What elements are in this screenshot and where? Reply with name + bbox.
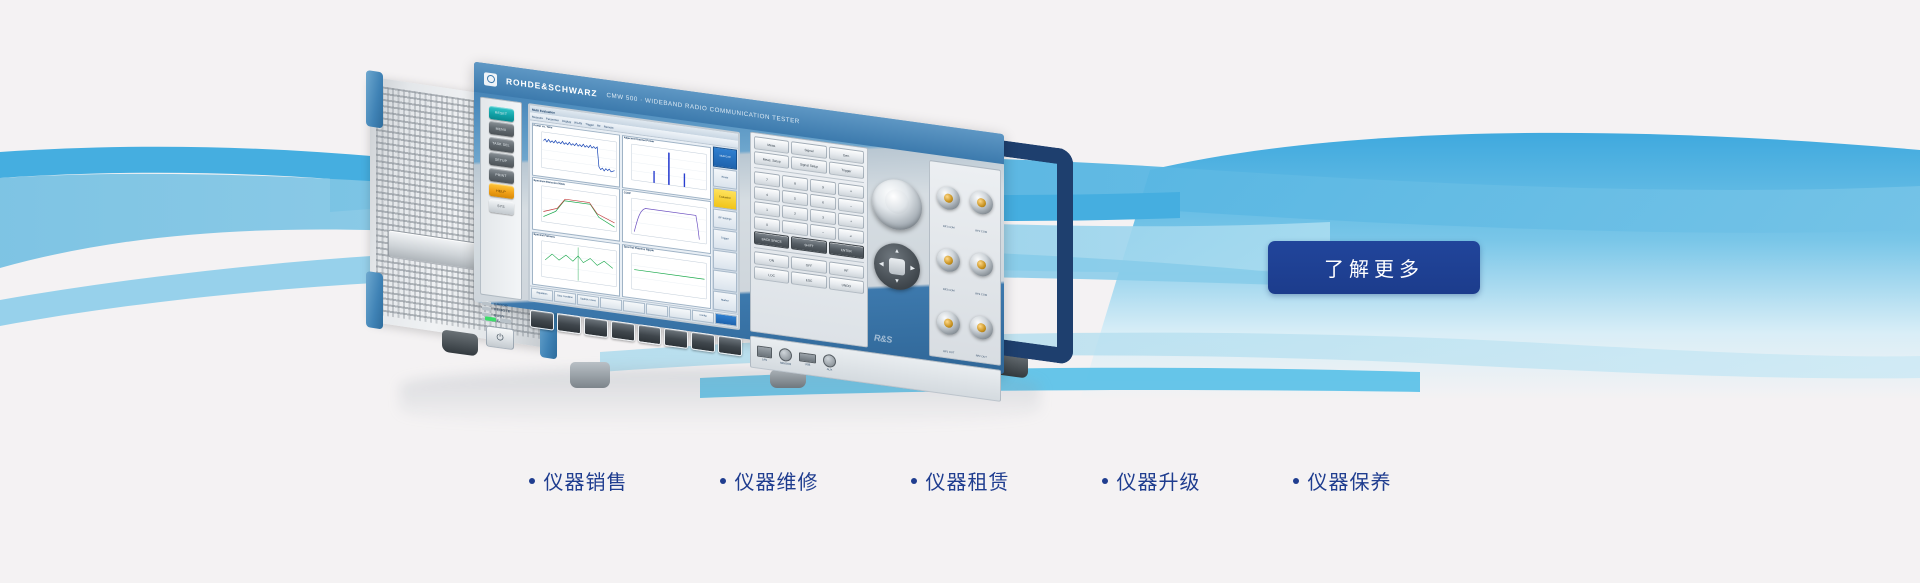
softkey[interactable]: Multi Eval	[713, 146, 737, 169]
softkey[interactable]: Route	[713, 167, 737, 190]
keypad-key-return[interactable]: ↵	[838, 228, 864, 245]
usb-port-icon	[799, 352, 816, 363]
menu-item[interactable]: Measure	[532, 114, 543, 119]
keypad-key-6[interactable]: 6	[810, 194, 836, 211]
instrument-foot	[442, 329, 478, 356]
hardkey[interactable]	[530, 309, 554, 330]
corner-cap	[366, 271, 383, 330]
keypad-key-9[interactable]: 9	[810, 179, 836, 196]
io-port-label: AUX	[827, 368, 833, 372]
nav-item-label: 仪器销售	[544, 466, 628, 495]
softkey[interactable]	[713, 269, 737, 292]
softkey[interactable]	[713, 249, 737, 272]
rf-connector-label: RF1 OUT	[943, 350, 954, 355]
nav-item-instrument-sales[interactable]: 仪器销售	[529, 466, 628, 495]
menu-item[interactable]: WLAN	[574, 120, 582, 125]
nav-item-instrument-maintenance[interactable]: 仪器保养	[1293, 466, 1392, 495]
function-key[interactable]: Statistic Count	[577, 294, 599, 308]
nav-item-label: 仪器保养	[1308, 466, 1392, 495]
keypad-key[interactable]: Signal Setup	[791, 156, 826, 174]
instrument-display[interactable]: Multi Evaluation Measure Parameter Displ…	[528, 103, 740, 330]
rf-connector-label: RF1 COM	[943, 225, 955, 230]
rf-connector[interactable]: RF2 OUT	[967, 296, 997, 359]
keypad-key-0[interactable]: 0	[754, 216, 780, 233]
rf-connector[interactable]: RF2 COM	[967, 171, 997, 234]
hardkey[interactable]	[611, 320, 635, 341]
coaxial-connector-icon	[937, 248, 960, 274]
panel-watermark: R&S	[874, 332, 892, 344]
function-key[interactable]: Stop Condition	[554, 291, 576, 305]
keypad-key-3[interactable]: 3	[810, 209, 836, 226]
coaxial-connector-icon	[970, 252, 993, 278]
product-image-cmw500: ROHDE&SCHWARZ CMW 500 · WIDEBAND RADIO C…	[370, 70, 1110, 400]
led-indicator-icon	[482, 306, 491, 311]
keypad-key-backspace[interactable]: BACK SPACE	[754, 231, 789, 249]
power-button[interactable]: ⏻	[486, 325, 514, 350]
keypad-key-loc[interactable]: LOC	[754, 266, 789, 284]
lan-port-icon	[757, 345, 772, 358]
sensor-port-icon	[779, 347, 792, 362]
nav-item-instrument-rental[interactable]: 仪器租赁	[911, 466, 1010, 495]
brand-name: ROHDE&SCHWARZ	[506, 76, 598, 99]
rotary-knob[interactable]	[872, 176, 922, 233]
keypad-key-shift[interactable]: SHIFT	[791, 236, 826, 254]
io-port-label: LAN	[762, 358, 767, 362]
arrow-down-icon[interactable]: ▼	[894, 278, 900, 285]
keypad-key-5[interactable]: 5	[782, 190, 808, 207]
io-port-lan[interactable]: LAN	[757, 345, 772, 362]
key-sys[interactable]: SYS	[489, 198, 514, 214]
key-reset[interactable]: RESET	[489, 105, 514, 121]
keypad-key-1[interactable]: 1	[754, 201, 780, 218]
rf-connector[interactable]: RF3 COM	[934, 229, 964, 292]
key-help[interactable]: HELP	[489, 183, 514, 199]
navigation-controls[interactable]: ▲ ▼ ◀ ▶	[870, 176, 926, 334]
io-port-label: USB	[805, 363, 811, 367]
keypad-key-8[interactable]: 8	[782, 175, 808, 192]
rf-connector-label: RF2 COM	[975, 230, 987, 235]
hardkey[interactable]	[718, 335, 742, 356]
led-indicator-icon	[482, 300, 491, 305]
rf-connector[interactable]: RF1 OUT	[934, 291, 964, 354]
arrow-right-icon[interactable]: ▶	[910, 265, 915, 272]
instrument-front-panel: ROHDE&SCHWARZ CMW 500 · WIDEBAND RADIO C…	[474, 62, 1004, 375]
hero-banner: ROHDE&SCHWARZ CMW 500 · WIDEBAND RADIO C…	[0, 0, 1920, 583]
keypad-key[interactable]: Meas. Setup	[754, 151, 789, 169]
function-key[interactable]: Repetition	[531, 288, 553, 302]
nav-item-instrument-repair[interactable]: 仪器维修	[720, 466, 819, 495]
learn-more-button[interactable]: 了解更多	[1268, 241, 1480, 294]
key-menu[interactable]: MENU	[489, 121, 514, 137]
menu-item[interactable]: Parameter	[546, 116, 559, 122]
bullet-icon	[720, 478, 726, 484]
io-port-label: SENSOR	[780, 361, 791, 366]
display-softkey-column[interactable]: Multi Eval Route Evaluation RF Settings …	[712, 145, 738, 314]
nav-item-label: 仪器维修	[735, 466, 819, 495]
side-key-column: RESET MENU TASK SEL SETUP PRINT HELP SYS	[480, 97, 522, 301]
rf-connector-panel[interactable]: RF1 COM RF2 COM RF3 COM RF4 COM RF1 OUT	[929, 160, 1001, 366]
menu-item[interactable]: Display	[562, 118, 571, 123]
hardkey[interactable]	[638, 324, 662, 345]
instrument-foot	[570, 362, 610, 388]
keypad-key-7[interactable]: 7	[754, 171, 780, 188]
coaxial-connector-icon	[937, 185, 960, 211]
function-key[interactable]	[669, 306, 691, 320]
keypad-key-dot[interactable]: .	[782, 220, 808, 237]
arrow-up-icon[interactable]: ▲	[894, 248, 900, 255]
softkey[interactable]: Evaluation	[713, 187, 737, 210]
coaxial-connector-icon	[970, 190, 993, 216]
coaxial-connector-icon	[970, 314, 993, 340]
keypad-control-group[interactable]: ON OFF RF LOC ESC UNDO	[754, 251, 864, 294]
corner-cap	[366, 70, 383, 129]
hardkey[interactable]	[584, 317, 608, 338]
coaxial-connector-icon	[937, 310, 960, 336]
io-port-sensor[interactable]: SENSOR	[779, 347, 792, 366]
menu-item[interactable]: Trigger	[585, 121, 594, 126]
io-port-aux[interactable]: AUX	[823, 353, 836, 372]
softkey[interactable]: Marker	[713, 290, 737, 313]
hardkey[interactable]	[557, 313, 581, 334]
hardkey[interactable]	[691, 331, 715, 352]
nav-item-label: 仪器升级	[1117, 466, 1201, 495]
function-key[interactable]	[600, 297, 622, 311]
menu-item[interactable]: RF	[597, 123, 601, 128]
rf-connector-label: RF3 COM	[943, 288, 955, 293]
rohde-schwarz-logo-icon	[484, 72, 497, 87]
rf-connector[interactable]: RF4 COM	[967, 233, 997, 296]
keypad-key-minus[interactable]: −	[838, 198, 864, 215]
softkey[interactable]: RF Settings	[713, 208, 737, 231]
keypad-key-2[interactable]: 2	[782, 205, 808, 222]
rf-connector-label: RF2 OUT	[976, 354, 987, 359]
arrow-left-icon[interactable]: ◀	[879, 261, 884, 268]
keypad-key-4[interactable]: 4	[754, 186, 780, 203]
bullet-icon	[1102, 478, 1108, 484]
keypad-key-multiply[interactable]: ×	[838, 183, 864, 200]
keypad-key-sign[interactable]: −	[810, 224, 836, 241]
nav-item-label: 仪器租赁	[926, 466, 1010, 495]
display-body: Power vs. Time Adjacent	[530, 120, 738, 313]
measurement-plot-grid: Power vs. Time Adjacent	[530, 120, 712, 310]
function-key[interactable]	[715, 313, 737, 327]
key-task-sel[interactable]: TASK SEL	[489, 136, 514, 152]
service-nav: 仪器销售 仪器维修 仪器租赁 仪器升级 仪器保养	[0, 466, 1920, 495]
keypad-key-esc[interactable]: ESC	[791, 271, 826, 289]
nav-item-instrument-upgrade[interactable]: 仪器升级	[1102, 466, 1201, 495]
function-key[interactable]	[623, 300, 645, 314]
hardkey[interactable]	[664, 328, 688, 349]
function-key[interactable]: Config	[692, 310, 714, 324]
keypad-key-enter[interactable]: ENTER	[829, 241, 864, 259]
io-port-usb[interactable]: USB	[799, 352, 816, 367]
rf-connector[interactable]: RF1 COM	[934, 167, 964, 230]
power-icon: ⏻	[496, 333, 503, 343]
keypad-key-plus[interactable]: +	[838, 213, 864, 230]
softkey[interactable]: Trigger	[713, 228, 737, 251]
aux-port-icon	[823, 353, 836, 368]
directional-pad[interactable]: ▲ ▼ ◀ ▶	[874, 240, 920, 292]
bullet-icon	[911, 478, 917, 484]
bullet-icon	[529, 478, 535, 484]
key-setup[interactable]: SETUP	[489, 152, 514, 168]
bullet-icon	[1293, 478, 1299, 484]
keypad-key[interactable]: Trigger	[829, 161, 864, 179]
menu-item[interactable]: Remote	[604, 124, 614, 129]
keypad-block[interactable]: Meas. Signal Gen. Meas. Setup Signal Set…	[750, 132, 868, 348]
keypad-key-undo[interactable]: UNDO	[829, 276, 864, 294]
rf-connector-label: RF4 COM	[975, 292, 987, 297]
function-key[interactable]	[646, 303, 668, 317]
key-print[interactable]: PRINT	[489, 167, 514, 183]
